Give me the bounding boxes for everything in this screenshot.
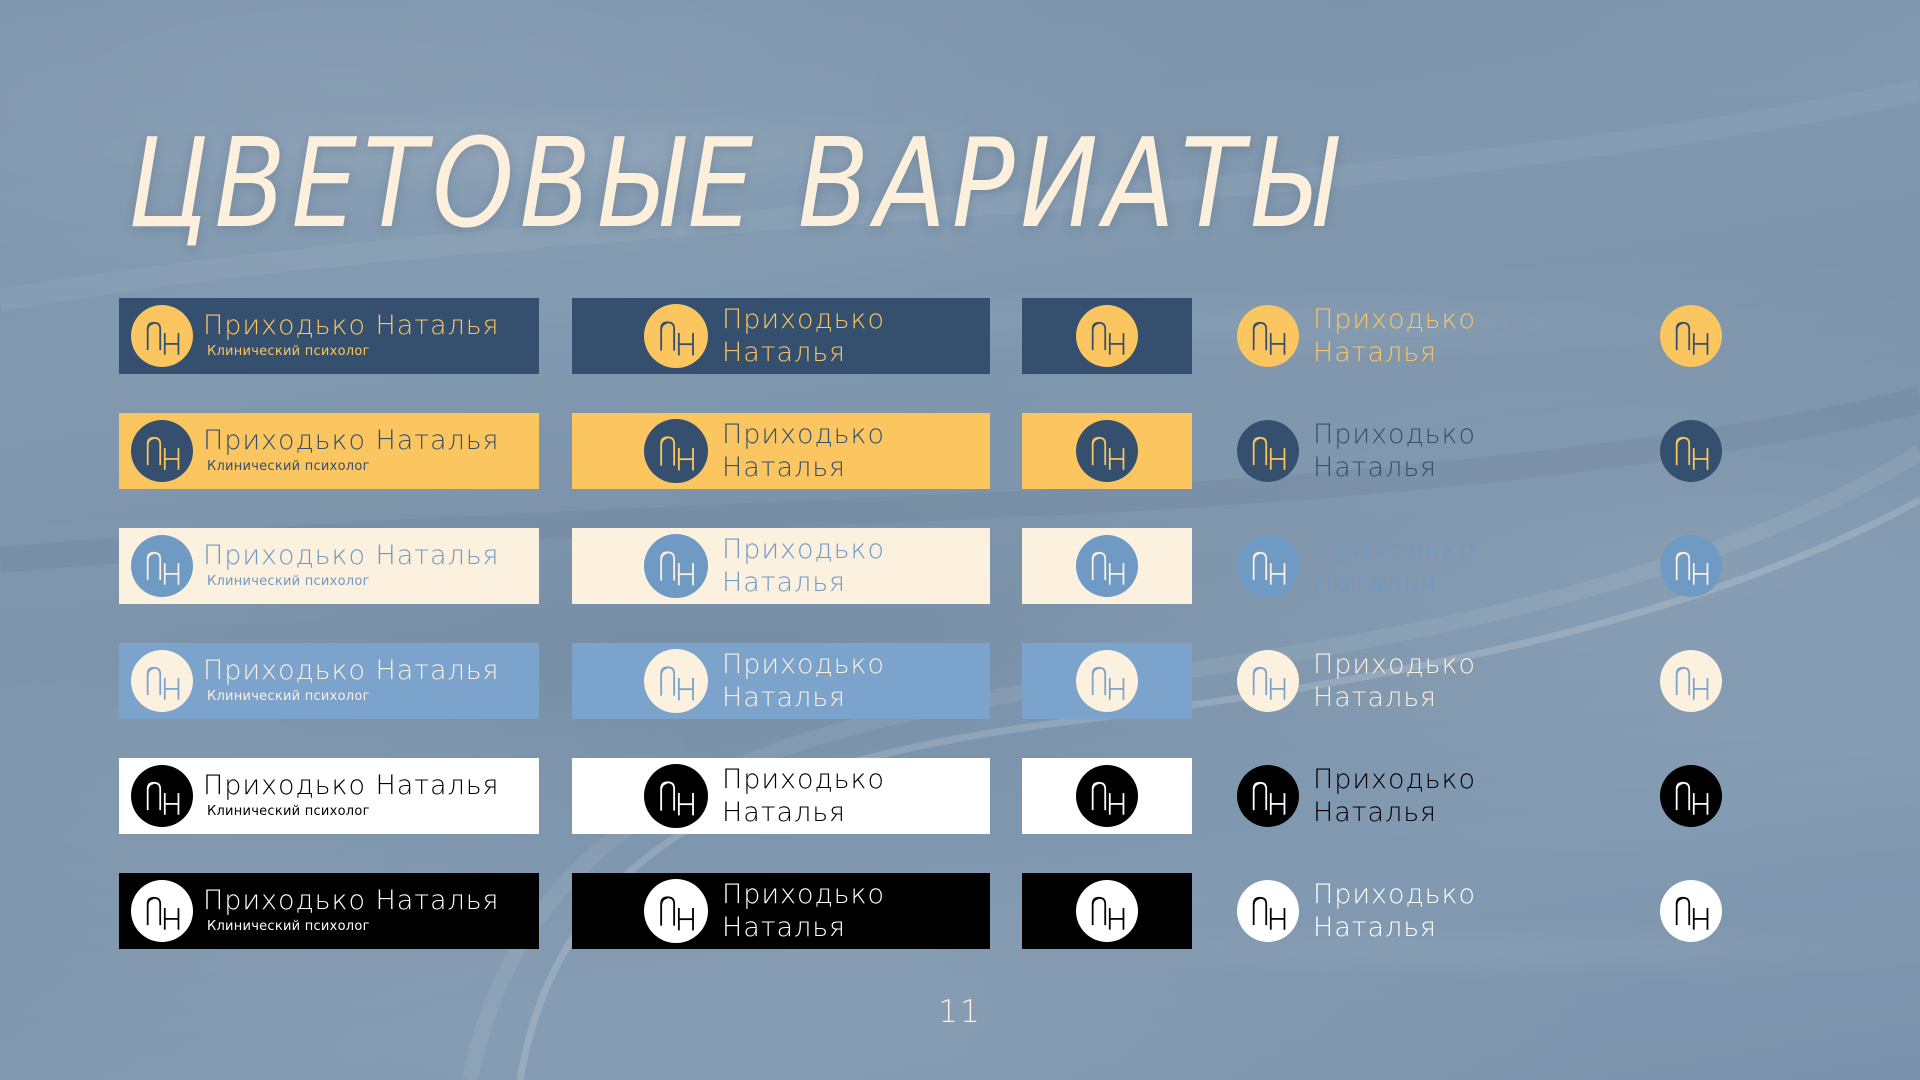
monogram-pn-icon	[134, 768, 191, 825]
logo-card-two-line[interactable]: Приходько Наталья	[572, 758, 990, 834]
logo-names: Приходько Наталья Клинический психолог	[203, 886, 499, 936]
logo-card-two-line[interactable]: Приходько Наталья	[572, 528, 990, 604]
monogram-pn-icon	[1240, 308, 1297, 365]
logo-names: Приходько Наталья	[722, 648, 885, 714]
monogram-pn-icon	[1079, 308, 1136, 365]
brand-name-line1: Приходько	[1313, 418, 1476, 451]
logo-badge	[1660, 420, 1722, 482]
variant-row: Приходько Наталья Клинический психолог П…	[0, 865, 1920, 980]
brand-tagline: Клинический психолог	[207, 803, 499, 821]
brand-tagline: Клинический психолог	[207, 573, 499, 591]
logo-badge	[131, 765, 193, 827]
brand-name-line2: Наталья	[722, 911, 885, 944]
logo-card-badge-only[interactable]	[1022, 298, 1192, 374]
logo-badge	[1660, 880, 1722, 942]
logo-badge	[131, 880, 193, 942]
logo-card-horizontal-tagline[interactable]: Приходько Наталья Клинический психолог	[119, 758, 539, 834]
brand-name-line1: Приходько	[1313, 763, 1476, 796]
brand-tagline: Клинический психолог	[207, 458, 499, 476]
logo-names: Приходько Наталья	[1313, 763, 1476, 829]
page-title: ЦВЕТОВЫЕ ВАРИАТЫ	[128, 122, 1341, 245]
logo-names: Приходько Наталья	[1313, 648, 1476, 714]
monogram-pn-icon	[647, 882, 706, 941]
logo-names: Приходько Наталья	[1313, 303, 1476, 369]
monogram-pn-icon	[647, 307, 706, 366]
monogram-pn-icon	[1663, 423, 1720, 480]
brand-name-line2: Наталья	[1313, 566, 1476, 599]
logo-badge	[1076, 765, 1138, 827]
brand-name-line1: Приходько	[1313, 648, 1476, 681]
logo-card-badge-only[interactable]	[1022, 873, 1192, 949]
logo-transparent-with-name[interactable]: Приходько Наталья	[1237, 758, 1476, 834]
logo-badge	[1660, 650, 1722, 712]
monogram-pn-icon	[134, 653, 191, 710]
monogram-pn-icon	[647, 652, 706, 711]
monogram-pn-icon	[1079, 768, 1136, 825]
brand-name-line1: Приходько	[1313, 878, 1476, 911]
logo-badge	[1660, 765, 1722, 827]
logo-names: Приходько Наталья	[1313, 533, 1476, 599]
brand-name: Приходько Наталья	[203, 311, 499, 341]
variant-row: Приходько Наталья Клинический психолог П…	[0, 635, 1920, 750]
logo-badge	[644, 304, 708, 368]
monogram-pn-icon	[1079, 883, 1136, 940]
logo-badge	[1660, 535, 1722, 597]
brand-name-line2: Наталья	[1313, 336, 1476, 369]
logo-badge	[1076, 880, 1138, 942]
logo-badge	[644, 419, 708, 483]
brand-name-line2: Наталья	[722, 796, 885, 829]
variant-row: Приходько Наталья Клинический психолог П…	[0, 290, 1920, 405]
logo-card-horizontal-tagline[interactable]: Приходько Наталья Клинический психолог	[119, 643, 539, 719]
monogram-pn-icon	[1240, 768, 1297, 825]
page-number: 11	[0, 994, 1920, 1030]
logo-badge	[1076, 305, 1138, 367]
monogram-pn-icon	[1240, 653, 1297, 710]
logo-names: Приходько Наталья	[1313, 878, 1476, 944]
logo-badge	[1076, 650, 1138, 712]
variant-row: Приходько Наталья Клинический психолог П…	[0, 520, 1920, 635]
logo-card-badge-only[interactable]	[1022, 758, 1192, 834]
logo-names: Приходько Наталья	[722, 303, 885, 369]
brand-name-line2: Наталья	[1313, 911, 1476, 944]
logo-card-two-line[interactable]: Приходько Наталья	[572, 298, 990, 374]
logo-badge	[1237, 420, 1299, 482]
logo-names: Приходько Наталья	[1313, 418, 1476, 484]
logo-badge	[131, 650, 193, 712]
brand-name-line2: Наталья	[1313, 796, 1476, 829]
logo-badge	[131, 305, 193, 367]
logo-names: Приходько Наталья Клинический психолог	[203, 541, 499, 591]
logo-badge	[1237, 765, 1299, 827]
logo-card-badge-only[interactable]	[1022, 528, 1192, 604]
logo-card-horizontal-tagline[interactable]: Приходько Наталья Клинический психолог	[119, 298, 539, 374]
logo-badge	[644, 764, 708, 828]
logo-badge	[1237, 650, 1299, 712]
variant-row: Приходько Наталья Клинический психолог П…	[0, 405, 1920, 520]
brand-name-line1: Приходько	[722, 418, 885, 451]
logo-transparent-with-name[interactable]: Приходько Наталья	[1237, 298, 1476, 374]
logo-card-badge-only[interactable]	[1022, 643, 1192, 719]
brand-name-line1: Приходько	[1313, 303, 1476, 336]
brand-name-line2: Наталья	[722, 451, 885, 484]
monogram-pn-icon	[1663, 308, 1720, 365]
logo-badge	[644, 649, 708, 713]
logo-badge	[644, 534, 708, 598]
monogram-pn-icon	[134, 538, 191, 595]
brand-name: Приходько Наталья	[203, 886, 499, 916]
logo-transparent-badge-only[interactable]	[1660, 413, 1722, 489]
monogram-pn-icon	[134, 883, 191, 940]
monogram-pn-icon	[134, 308, 191, 365]
logo-badge	[1237, 305, 1299, 367]
logo-card-two-line[interactable]: Приходько Наталья	[572, 643, 990, 719]
monogram-pn-icon	[1079, 538, 1136, 595]
logo-transparent-badge-only[interactable]	[1660, 873, 1722, 949]
monogram-pn-icon	[134, 423, 191, 480]
brand-name: Приходько Наталья	[203, 771, 499, 801]
slide-root: ЦВЕТОВЫЕ ВАРИАТЫ Приходько Наталья Клини…	[0, 0, 1920, 1080]
monogram-pn-icon	[1240, 883, 1297, 940]
brand-name-line1: Приходько	[1313, 533, 1476, 566]
brand-name-line2: Наталья	[722, 336, 885, 369]
brand-name: Приходько Наталья	[203, 656, 499, 686]
brand-name: Приходько Наталья	[203, 426, 499, 456]
logo-badge	[1076, 420, 1138, 482]
logo-card-horizontal-tagline[interactable]: Приходько Наталья Клинический психолог	[119, 413, 539, 489]
logo-transparent-with-name[interactable]: Приходько Наталья	[1237, 528, 1476, 604]
brand-name-line1: Приходько	[722, 648, 885, 681]
logo-names: Приходько Наталья	[722, 418, 885, 484]
monogram-pn-icon	[1663, 538, 1720, 595]
logo-card-horizontal-tagline[interactable]: Приходько Наталья Клинический психолог	[119, 873, 539, 949]
logo-card-two-line[interactable]: Приходько Наталья	[572, 873, 990, 949]
brand-name-line1: Приходько	[722, 303, 885, 336]
monogram-pn-icon	[1663, 653, 1720, 710]
logo-transparent-with-name[interactable]: Приходько Наталья	[1237, 643, 1476, 719]
logo-names: Приходько Наталья Клинический психолог	[203, 426, 499, 476]
brand-name-line1: Приходько	[722, 878, 885, 911]
logo-names: Приходько Наталья	[722, 878, 885, 944]
logo-names: Приходько Наталья Клинический психолог	[203, 656, 499, 706]
logo-names: Приходько Наталья	[722, 763, 885, 829]
brand-name: Приходько Наталья	[203, 541, 499, 571]
brand-tagline: Клинический психолог	[207, 688, 499, 706]
logo-badge	[1237, 535, 1299, 597]
monogram-pn-icon	[1079, 423, 1136, 480]
logo-card-two-line[interactable]: Приходько Наталья	[572, 413, 990, 489]
monogram-pn-icon	[647, 767, 706, 826]
brand-tagline: Клинический психолог	[207, 343, 499, 361]
monogram-pn-icon	[1240, 538, 1297, 595]
logo-names: Приходько Наталья Клинический психолог	[203, 311, 499, 361]
monogram-pn-icon	[1240, 423, 1297, 480]
logo-badge	[131, 535, 193, 597]
monogram-pn-icon	[647, 537, 706, 596]
brand-tagline: Клинический психолог	[207, 918, 499, 936]
logo-transparent-badge-only[interactable]	[1660, 298, 1722, 374]
logo-badge	[1076, 535, 1138, 597]
monogram-pn-icon	[647, 422, 706, 481]
color-variants-grid: Приходько Наталья Клинический психолог П…	[0, 290, 1920, 980]
logo-transparent-with-name[interactable]: Приходько Наталья	[1237, 873, 1476, 949]
logo-card-horizontal-tagline[interactable]: Приходько Наталья Клинический психолог	[119, 528, 539, 604]
monogram-pn-icon	[1079, 653, 1136, 710]
logo-names: Приходько Наталья Клинический психолог	[203, 771, 499, 821]
monogram-pn-icon	[1663, 883, 1720, 940]
logo-transparent-badge-only[interactable]	[1660, 528, 1722, 604]
brand-name-line2: Наталья	[722, 566, 885, 599]
logo-transparent-badge-only[interactable]	[1660, 758, 1722, 834]
logo-transparent-with-name[interactable]: Приходько Наталья	[1237, 413, 1476, 489]
brand-name-line1: Приходько	[722, 533, 885, 566]
logo-badge	[644, 879, 708, 943]
logo-card-badge-only[interactable]	[1022, 413, 1192, 489]
brand-name-line2: Наталья	[1313, 681, 1476, 714]
logo-transparent-badge-only[interactable]	[1660, 643, 1722, 719]
brand-name-line1: Приходько	[722, 763, 885, 796]
logo-badge	[1237, 880, 1299, 942]
monogram-pn-icon	[1663, 768, 1720, 825]
variant-row: Приходько Наталья Клинический психолог П…	[0, 750, 1920, 865]
logo-names: Приходько Наталья	[722, 533, 885, 599]
logo-badge	[131, 420, 193, 482]
logo-badge	[1660, 305, 1722, 367]
brand-name-line2: Наталья	[722, 681, 885, 714]
brand-name-line2: Наталья	[1313, 451, 1476, 484]
